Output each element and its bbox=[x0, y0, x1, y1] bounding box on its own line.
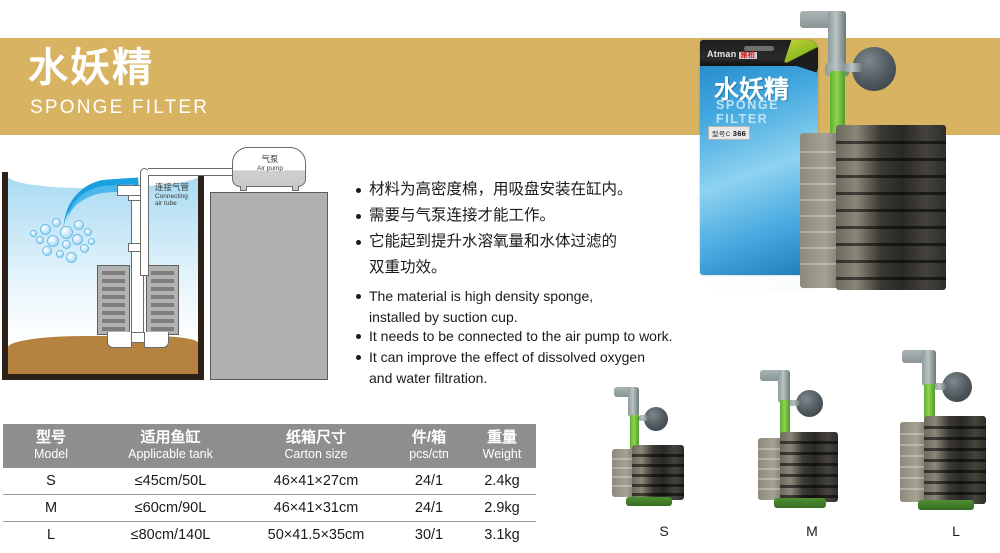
product-photo-s bbox=[612, 385, 722, 520]
column-header-tank-en: Applicable tank bbox=[99, 447, 242, 462]
column-header-weight-en: Weight bbox=[468, 447, 536, 462]
cell-pcs: 24/1 bbox=[390, 468, 468, 495]
hero-suction-arm bbox=[844, 63, 862, 72]
hero-outlet-pipe bbox=[828, 11, 846, 69]
column-header-carton-cn: 纸箱尺寸 bbox=[242, 429, 390, 447]
bubble bbox=[30, 230, 37, 237]
table-header-row: 型号 Model 适用鱼缸 Applicable tank 纸箱尺寸 Carto… bbox=[3, 424, 536, 468]
page-title-en: SPONGE FILTER bbox=[30, 98, 209, 117]
bubble bbox=[42, 246, 52, 256]
sponge-block-right bbox=[146, 265, 179, 335]
feature-item-cn-3: 它能起到提升水溶氧量和水体过滤的 bbox=[355, 230, 685, 254]
table-row: M ≤60cm/90L 46×41×31cm 24/1 2.9kg bbox=[3, 495, 536, 522]
bubble bbox=[60, 226, 73, 239]
package-model-code-prefix: 型号C bbox=[712, 131, 731, 138]
feature-item-cn-2: 需要与气泵连接才能工作。 bbox=[355, 204, 685, 228]
column-header-pcs: 件/箱 pcs/ctn bbox=[390, 424, 468, 468]
product-m-sponge-stack bbox=[780, 432, 838, 502]
filter-leg-right bbox=[144, 332, 169, 348]
bubble bbox=[56, 250, 64, 258]
cell-weight: 2.9kg bbox=[468, 495, 536, 522]
air-pump-label: 气泵 Air pump bbox=[248, 155, 292, 172]
air-tube-label-en-line1: Connecting bbox=[155, 193, 189, 200]
product-s-outlet-pipe bbox=[628, 387, 639, 417]
cell-tank: ≤80cm/140L bbox=[99, 522, 242, 549]
package-brand-cn: 雅柏 bbox=[739, 52, 758, 59]
feature-list: 材料为高密度棉，用吸盘安装在缸内。 需要与气泵连接才能工作。 它能起到提升水溶氧… bbox=[355, 178, 685, 388]
bubble bbox=[72, 234, 83, 245]
product-l-suction-arm bbox=[934, 383, 946, 390]
bubble bbox=[62, 240, 71, 249]
bubble bbox=[52, 218, 61, 227]
cell-model: M bbox=[3, 495, 99, 522]
product-size-label-s: S bbox=[644, 523, 684, 539]
filter-leg-left bbox=[107, 332, 132, 348]
column-header-weight-cn: 重量 bbox=[468, 429, 536, 447]
cell-model: S bbox=[3, 468, 99, 495]
product-size-label-m: M bbox=[792, 523, 832, 539]
product-size-label-l: L bbox=[936, 523, 976, 539]
package-model-code-value: 366 bbox=[733, 129, 746, 138]
tank-bottom bbox=[2, 374, 204, 380]
feature-item-en-1-continuation: installed by suction cup. bbox=[355, 308, 685, 327]
sponge-block-left bbox=[97, 265, 130, 335]
product-l-outlet-pipe bbox=[922, 350, 936, 386]
hero-sponge-stack bbox=[836, 125, 946, 290]
cell-model: L bbox=[3, 522, 99, 549]
air-tube-label-cn: 连接气管 bbox=[155, 183, 189, 193]
bubble bbox=[66, 252, 77, 263]
product-l-suction-cup bbox=[942, 372, 972, 402]
air-tube-horizontal bbox=[148, 168, 236, 176]
column-header-weight: 重量 Weight bbox=[468, 424, 536, 468]
cell-pcs: 30/1 bbox=[390, 522, 468, 549]
air-pump-label-en: Air pump bbox=[248, 165, 292, 172]
feature-item-en-1: The material is high density sponge, bbox=[355, 287, 685, 306]
bubble bbox=[80, 244, 89, 253]
bubble bbox=[88, 238, 95, 245]
column-header-carton-en: Carton size bbox=[242, 447, 390, 462]
column-header-pcs-en: pcs/ctn bbox=[390, 447, 468, 462]
product-catalog-page: 水妖精 SPONGE FILTER bbox=[0, 0, 1000, 553]
cell-tank: ≤45cm/50L bbox=[99, 468, 242, 495]
package-brand-name: Atman bbox=[707, 49, 737, 59]
aquarium-stand bbox=[210, 192, 328, 380]
product-m-foot bbox=[774, 498, 826, 508]
table-row: S ≤45cm/50L 46×41×27cm 24/1 2.4kg bbox=[3, 468, 536, 495]
feature-item-en-3: It can improve the effect of dissolved o… bbox=[355, 348, 685, 367]
column-header-model-cn: 型号 bbox=[3, 429, 99, 447]
feature-item-cn-1: 材料为高密度棉，用吸盘安装在缸内。 bbox=[355, 178, 685, 202]
product-m-outlet-pipe bbox=[778, 370, 790, 403]
air-pump-label-cn: 气泵 bbox=[248, 155, 292, 165]
cell-weight: 2.4kg bbox=[468, 468, 536, 495]
bubble bbox=[74, 220, 84, 230]
page-title-cn: 水妖精 bbox=[28, 48, 154, 88]
bubble bbox=[36, 236, 44, 244]
product-s-foot bbox=[626, 497, 672, 506]
cell-carton: 50×41.5×35cm bbox=[242, 522, 390, 549]
bubble bbox=[47, 235, 59, 247]
column-header-carton: 纸箱尺寸 Carton size bbox=[242, 424, 390, 468]
package-model-code: 型号C 366 bbox=[708, 126, 750, 140]
cell-pcs: 24/1 bbox=[390, 495, 468, 522]
column-header-pcs-cn: 件/箱 bbox=[390, 429, 468, 447]
product-photo-m bbox=[758, 368, 878, 520]
cell-carton: 46×41×31cm bbox=[242, 495, 390, 522]
column-header-model: 型号 Model bbox=[3, 424, 99, 468]
air-tube-vertical bbox=[140, 176, 149, 276]
tank-wall-right bbox=[198, 172, 204, 380]
bubble bbox=[40, 224, 51, 235]
specification-table: 型号 Model 适用鱼缸 Applicable tank 纸箱尺寸 Carto… bbox=[3, 424, 536, 548]
product-l-foot bbox=[918, 500, 974, 510]
cell-tank: ≤60cm/90L bbox=[99, 495, 242, 522]
bubble bbox=[84, 228, 92, 236]
tank-substrate bbox=[8, 336, 198, 374]
product-photo-l bbox=[900, 348, 1000, 520]
column-header-tank: 适用鱼缸 Applicable tank bbox=[99, 424, 242, 468]
installation-diagram: 气泵 Air pump 连接气管 Connecting air tube bbox=[0, 140, 345, 388]
package-brand: Atman雅柏 bbox=[707, 49, 757, 60]
column-header-tank-cn: 适用鱼缸 bbox=[99, 429, 242, 447]
air-pump-foot bbox=[240, 186, 247, 191]
feature-item-cn-3-continuation: 双重功效。 bbox=[355, 256, 685, 280]
air-pump-foot bbox=[292, 186, 299, 191]
product-s-sponge-stack bbox=[632, 445, 684, 500]
product-s-suction-arm bbox=[638, 415, 648, 421]
product-l-sponge-stack bbox=[924, 416, 986, 504]
product-m-suction-cup bbox=[796, 390, 823, 417]
hero-product-photo bbox=[800, 5, 1000, 290]
air-tube-label: 连接气管 Connecting air tube bbox=[155, 183, 189, 207]
cell-carton: 46×41×27cm bbox=[242, 468, 390, 495]
feature-item-en-2: It needs to be connected to the air pump… bbox=[355, 327, 685, 346]
cell-weight: 3.1kg bbox=[468, 522, 536, 549]
column-header-model-en: Model bbox=[3, 447, 99, 462]
air-tube-label-en-line2: air tube bbox=[155, 200, 189, 207]
tank-wall-left bbox=[2, 172, 8, 380]
table-row: L ≤80cm/140L 50×41.5×35cm 30/1 3.1kg bbox=[3, 522, 536, 549]
